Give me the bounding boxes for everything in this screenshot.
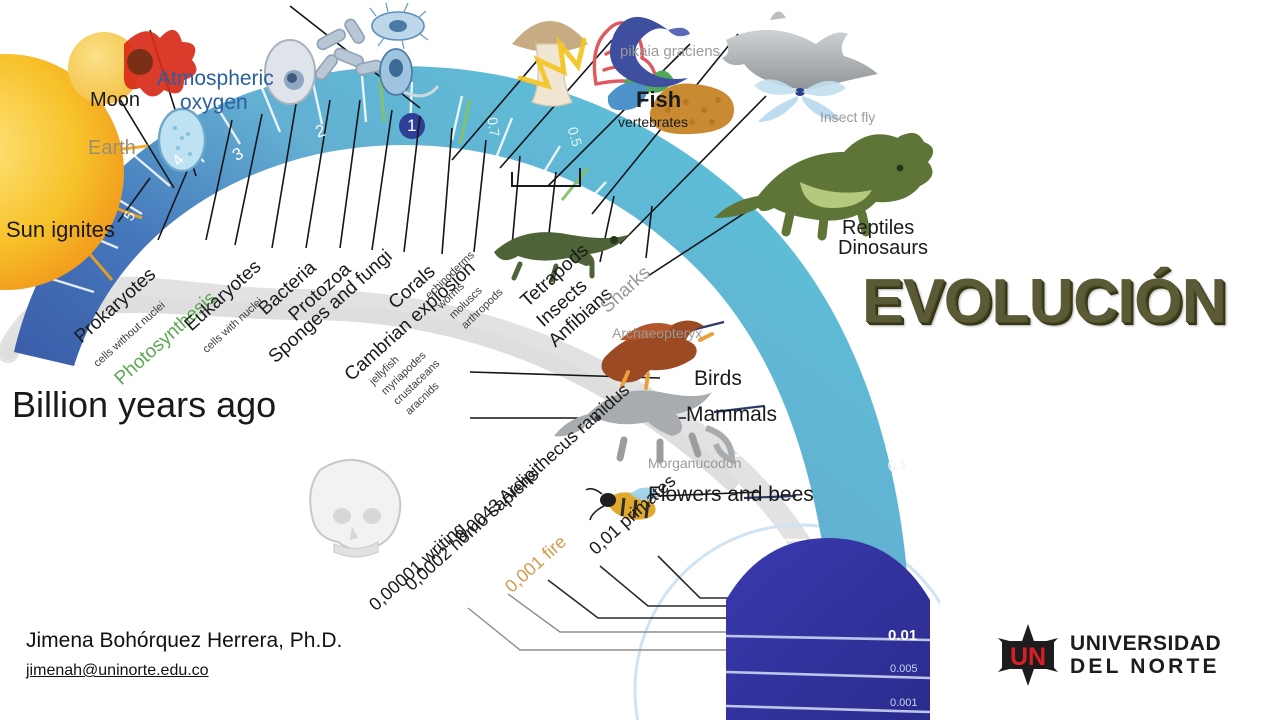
caption-insect-fly: Insect fly xyxy=(820,110,875,125)
caption-fish-vertebrates: vertebrates xyxy=(618,115,688,130)
label-moon: Moon xyxy=(90,90,140,111)
inset-scale-0-005: 0.005 xyxy=(890,664,918,676)
arc-scale-0-7: 0.7 xyxy=(485,116,502,137)
skull-illustration xyxy=(310,460,400,557)
label-earth: Earth xyxy=(88,138,136,159)
caption-dinosaurs: Dinosaurs xyxy=(838,238,928,259)
axis-caption-billion-years-ago: Billion years ago xyxy=(12,386,276,424)
logo-line-universidad: UNIVERSIDAD xyxy=(1070,633,1221,654)
page-title: EVOLUCIÓN xyxy=(862,266,1226,337)
presenter-name: Jimena Bohórquez Herrera, Ph.D. xyxy=(26,628,342,654)
label-atmospheric: Atmospheric xyxy=(157,68,274,90)
caption-fish: Fish xyxy=(636,88,681,111)
presenter-block: Jimena Bohórquez Herrera, Ph.D. jimenah@… xyxy=(26,628,342,680)
presenter-email[interactable]: jimenah@uninorte.edu.co xyxy=(26,662,209,680)
label-atmospheric-oxygen: oxygen xyxy=(180,92,248,114)
label-mammals: Mammals xyxy=(686,404,777,426)
university-logo: UN UNIVERSIDAD DEL NORTE xyxy=(996,624,1221,686)
svg-text:UN: UN xyxy=(1010,643,1046,671)
un-star-icon: UN xyxy=(996,624,1060,686)
caption-pikaia: pikaia graciens xyxy=(620,44,720,60)
inset-scale-0-001: 0.001 xyxy=(890,698,918,710)
label-birds: Birds xyxy=(694,368,742,390)
presentation-slide: Sun ignites Earth Moon Atmospheric oxyge… xyxy=(0,0,1280,720)
logo-line-del-norte: DEL NORTE xyxy=(1070,656,1221,677)
caption-morganucodon: Morganucodon xyxy=(648,456,741,471)
evolution-timeline-diagram: Sun ignites Earth Moon Atmospheric oxyge… xyxy=(0,0,940,720)
caption-archaeopteryx: Archaeopteryx xyxy=(612,326,702,341)
label-sun-ignites: Sun ignites xyxy=(6,218,115,241)
logo-wordmark: UNIVERSIDAD DEL NORTE xyxy=(1070,633,1221,677)
caption-reptiles: Reptiles xyxy=(842,218,914,239)
inset-scale-0-01: 0.01 xyxy=(888,628,917,644)
shark-illustration xyxy=(722,11,878,89)
arc-scale-1: 1 xyxy=(407,117,416,135)
